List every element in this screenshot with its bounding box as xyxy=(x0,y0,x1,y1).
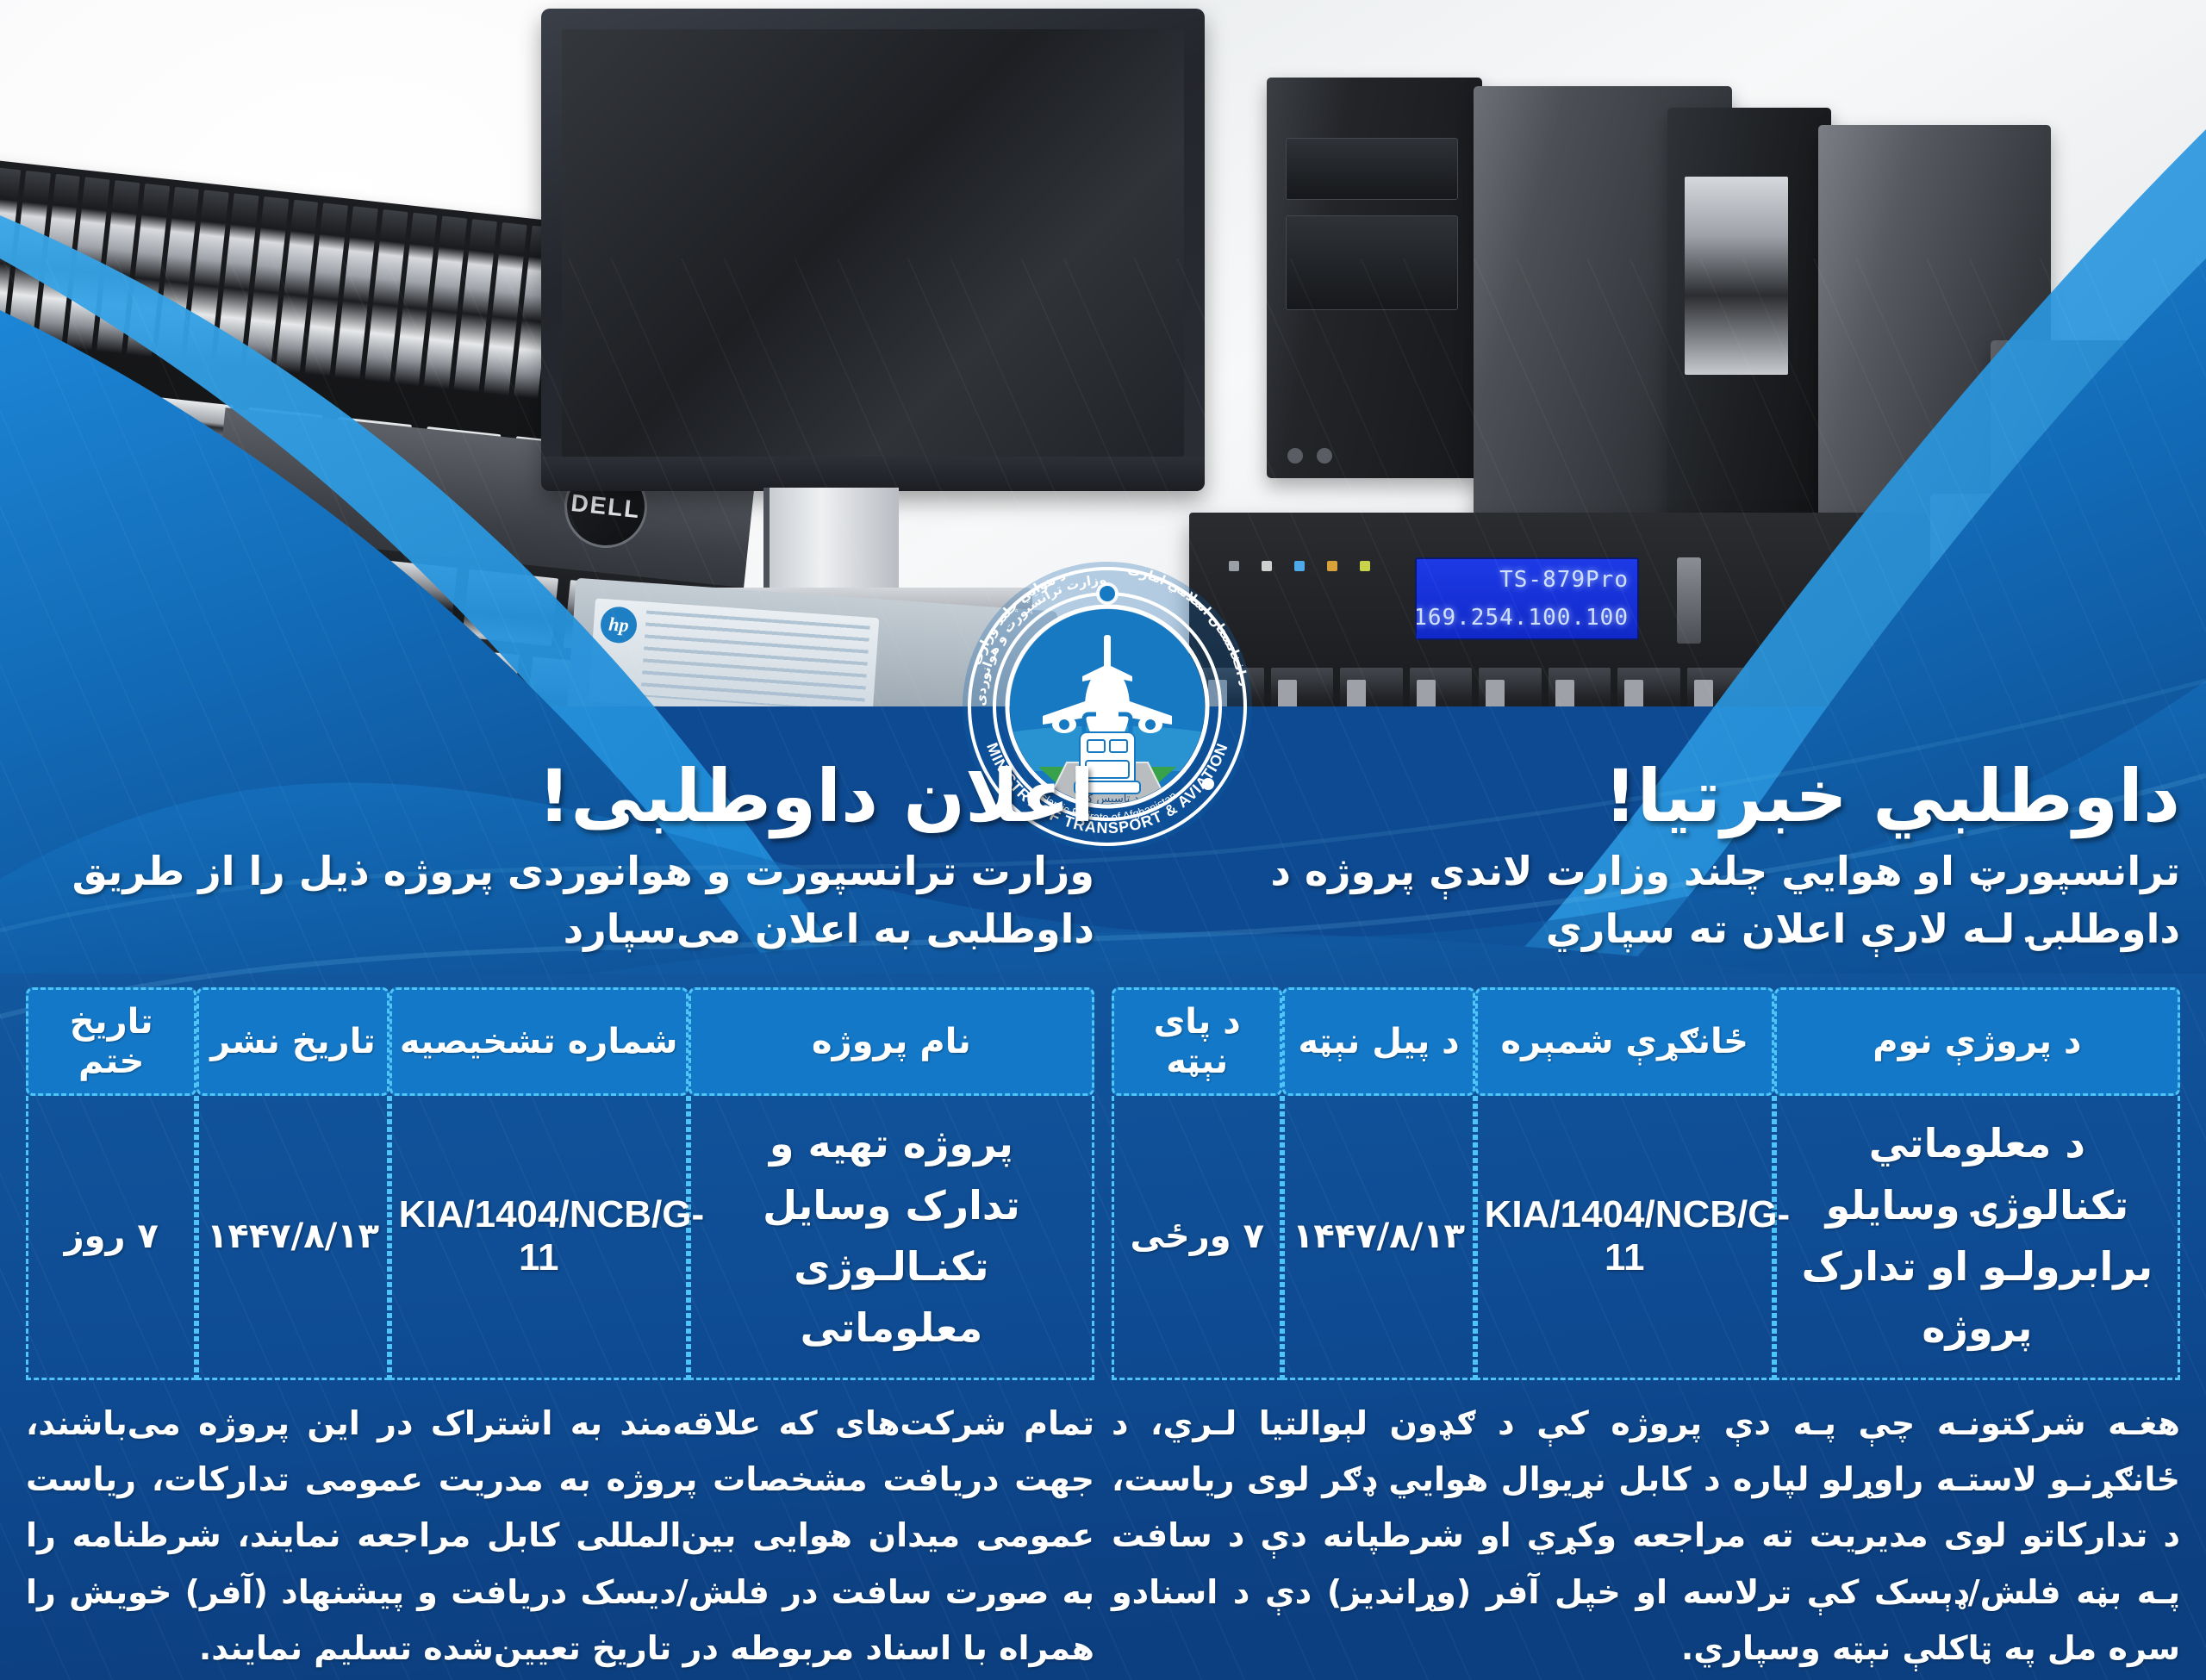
dari-note: تمام شرکت‌های که علاقه‌مند به اشتراک در … xyxy=(26,1396,1094,1677)
col-reference-number: شماره تشخیصیه xyxy=(389,987,689,1096)
col-end-date: د پای نېټه xyxy=(1112,987,1282,1096)
dari-subhead: وزارت ترانسپورت و هوانوردی پروژه ذیل را … xyxy=(26,843,1094,957)
table-row: د معلوماتي تکنالوژۍ وسایلو برابرولـو او … xyxy=(1112,1096,2180,1380)
col-closing-date: تاریخ ختم xyxy=(26,987,196,1096)
pashto-tender-table: د پروژې نوم ځانګړې شمېره د پیل نېټه د پا… xyxy=(1112,987,2180,1380)
cell-closing-date: ۷ روز xyxy=(26,1096,196,1380)
table-header-row: نام پروژه شماره تشخیصیه تاریخ نشر تاریخ … xyxy=(26,987,1094,1096)
dari-tender-table: نام پروژه شماره تشخیصیه تاریخ نشر تاریخ … xyxy=(26,987,1094,1380)
col-reference-number: ځانګړې شمېره xyxy=(1475,987,1774,1096)
pashto-column: داوطلبي خبرتیا! ترانسپورټ او هوايي چلند … xyxy=(1112,758,2180,1680)
cell-start-date: ۱۴۴۷/۸/۱۳ xyxy=(1282,1096,1474,1380)
pashto-subhead: ترانسپورټ او هوايي چلند وزارت لاندې پروژ… xyxy=(1112,843,2180,957)
tender-poster: DELL hp xyxy=(0,0,2206,1680)
col-start-date: د پیل نېټه xyxy=(1282,987,1474,1096)
dari-headline: اعلان داوطلبی! xyxy=(26,758,1094,834)
cell-reference-number: KIA/1404/NCB/G-11 xyxy=(1475,1096,1774,1380)
poster-content: داوطلبي خبرتیا! ترانسپورټ او هوايي چلند … xyxy=(0,0,2206,1680)
table-header-row: د پروژې نوم ځانګړې شمېره د پیل نېټه د پا… xyxy=(1112,987,2180,1096)
pashto-headline: داوطلبي خبرتیا! xyxy=(1112,758,2180,834)
col-publish-date: تاریخ نشر xyxy=(196,987,389,1096)
dari-column: اعلان داوطلبی! وزارت ترانسپورت و هوانورد… xyxy=(26,758,1094,1680)
col-project-name: نام پروژه xyxy=(689,987,1094,1096)
cell-end-date: ۷ ورځی xyxy=(1112,1096,1282,1380)
cell-project-name: پروژه تهیه و تدارک وسایل تکنـالـوژی معلو… xyxy=(689,1096,1094,1380)
cell-project-name: د معلوماتي تکنالوژۍ وسایلو برابرولـو او … xyxy=(1774,1096,2180,1380)
cell-reference-number: KIA/1404/NCB/G-11 xyxy=(389,1096,689,1380)
col-project-name: د پروژې نوم xyxy=(1774,987,2180,1096)
table-row: پروژه تهیه و تدارک وسایل تکنـالـوژی معلو… xyxy=(26,1096,1094,1380)
cell-publish-date: ۱۴۴۷/۸/۱۳ xyxy=(196,1096,389,1380)
pashto-note: هغـه شرکتونـه چې پـه دې پروژه کې د ګډون … xyxy=(1112,1396,2180,1677)
